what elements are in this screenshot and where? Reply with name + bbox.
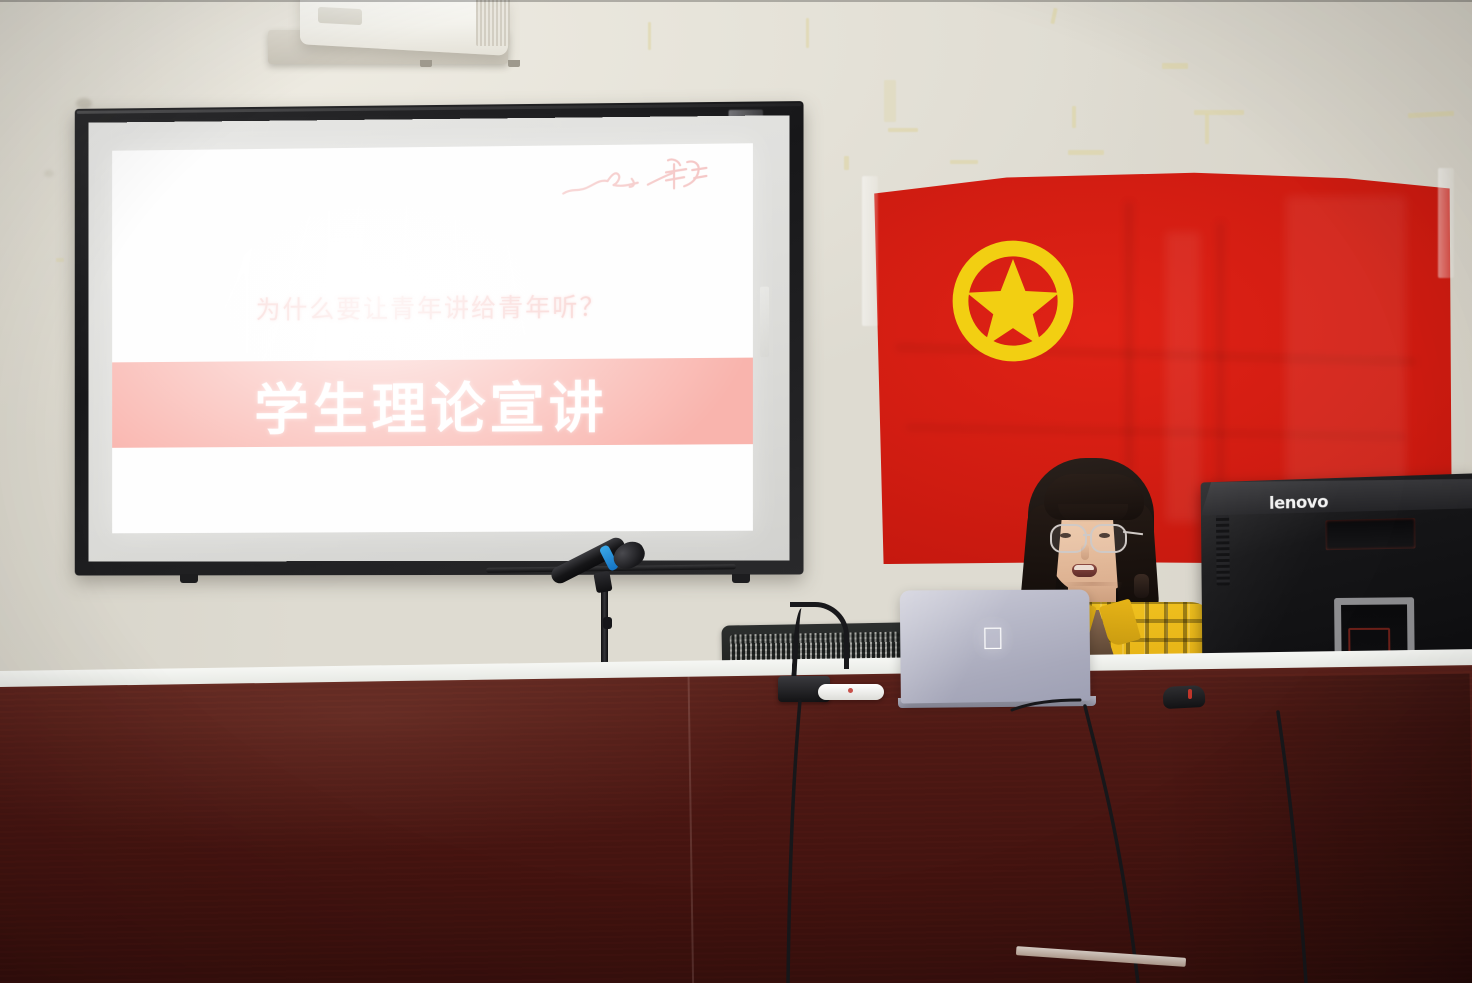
tape-residue-mark: [884, 80, 896, 122]
microphone-height-knob[interactable]: [603, 617, 612, 629]
mouse-scroll-accent: [1188, 689, 1192, 699]
slide-title: 学生理论宣讲: [112, 363, 753, 445]
projector-foot: [508, 60, 520, 67]
eyeglasses-right-lens: [1090, 524, 1127, 553]
whiteboard-side-button-strip[interactable]: [760, 287, 769, 358]
flag-tape-left: [862, 176, 878, 326]
whiteboard-frame-highlight: [77, 103, 802, 114]
nose: [1081, 544, 1089, 560]
lecture-hall-scene: 为什么要让青年讲给青年听？ 学生理论宣讲: [0, 0, 1472, 983]
tape-residue-mark: [1194, 110, 1244, 115]
projector-vent: [476, 0, 510, 46]
tape-residue-mark: [950, 160, 978, 164]
image-top-edge: [0, 0, 1472, 2]
tape-residue-mark: [806, 18, 809, 48]
presenter-remote-button[interactable]: [848, 688, 853, 693]
macbook-lid: : [900, 590, 1091, 704]
whiteboard-bottom-clip: [732, 574, 750, 583]
hair-tie: [1134, 574, 1149, 598]
youth-league-emblem-icon: [950, 238, 1076, 364]
calligraphy-signature-icon: [555, 154, 716, 214]
whiteboard-bottom-clip: [180, 574, 198, 583]
projected-slide: 为什么要让青年讲给青年听？ 学生理论宣讲: [112, 143, 753, 533]
computer-mouse[interactable]: [1162, 685, 1205, 709]
teeth: [1074, 565, 1094, 570]
microphone-clip: [593, 571, 612, 593]
tape-residue-mark: [844, 156, 849, 170]
wall-scuff: [44, 170, 54, 177]
tape-residue-mark: [1162, 63, 1188, 69]
flag-tape-right: [1438, 168, 1454, 278]
tape-residue-mark: [1072, 106, 1076, 128]
apple-logo-icon: : [979, 624, 1007, 656]
desk-right-shadow: [1150, 674, 1472, 983]
tape-residue-mark: [888, 128, 918, 132]
eyeglasses-bridge: [1083, 534, 1092, 536]
projector-foot: [420, 60, 432, 67]
projector-lens: [318, 7, 362, 25]
tape-residue-mark: [1205, 114, 1209, 144]
hair-bangs-wisp: [1058, 504, 1128, 522]
slide-subtitle: 为什么要让青年讲给青年听？: [112, 286, 753, 327]
tape-residue-mark: [1068, 150, 1104, 155]
tape-residue-mark: [56, 258, 64, 262]
tape-residue-mark: [648, 22, 651, 50]
